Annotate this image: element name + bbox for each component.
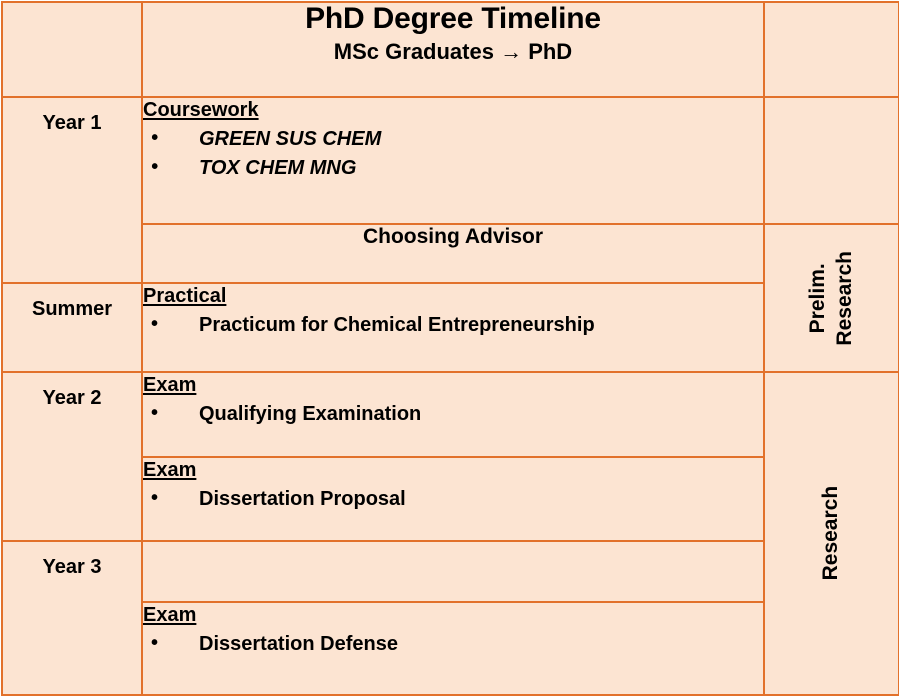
list-item: Dissertation Defense [143,630,763,659]
item-list: Qualifying Examination [143,400,763,429]
year-label: Year 2 [3,373,141,410]
cell-dissertation-proposal: Exam Dissertation Proposal [142,457,764,541]
list-item: GREEN SUS CHEM [143,125,763,154]
category-label: Coursework [143,98,259,123]
research-label: Research [818,486,844,581]
list-item: Dissertation Proposal [143,485,763,514]
header-row: PhD Degree Timeline MSc Graduates → PhD [2,2,899,97]
header-right-spacer [764,2,899,97]
item-list: Dissertation Defense [143,630,763,659]
year-cell-year3: Year 3 [2,541,142,695]
category-label: Practical [143,284,226,309]
timeline-table: PhD Degree Timeline MSc Graduates → PhD … [1,1,899,696]
rotated-label-wrap: Prelim. Research [765,225,898,371]
rotated-label-wrap: Research [765,373,898,694]
prelim-line-2: Research [832,251,859,346]
phase-cell-research: Research [764,372,899,695]
category-label: Exam [143,373,196,398]
phase-cell-blank-top [764,97,899,224]
category-label: Exam [143,458,196,483]
advisor-label: Choosing Advisor [363,225,543,248]
cell-dissertation-defense: Exam Dissertation Defense [142,602,764,695]
category-label: Exam [143,603,196,628]
cell-coursework: Coursework GREEN SUS CHEM TOX CHEM MNG [142,97,764,224]
header-title-cell: PhD Degree Timeline MSc Graduates → PhD [142,2,764,97]
page-title: PhD Degree Timeline [143,3,763,35]
cell-year3-empty [142,541,764,602]
row-qualifying-exam: Year 2 Exam Qualifying Examination Resea… [2,372,899,457]
cell-qualifying-exam: Exam Qualifying Examination [142,372,764,457]
item-list: Dissertation Proposal [143,485,763,514]
page-subtitle: MSc Graduates → PhD [143,38,763,66]
year-cell-year2: Year 2 [2,372,142,541]
prelim-line-1: Prelim. [804,251,831,346]
year-label: Year 3 [3,542,141,579]
year-cell-year1: Year 1 [2,97,142,283]
year-label: Summer [3,284,141,321]
item-list: GREEN SUS CHEM TOX CHEM MNG [143,125,763,183]
phd-timeline-diagram: PhD Degree Timeline MSc Graduates → PhD … [0,1,899,696]
list-item: Qualifying Examination [143,400,763,429]
phase-cell-prelim-research: Prelim. Research [764,224,899,372]
prelim-research-label: Prelim. Research [804,251,859,346]
cell-choosing-advisor: Choosing Advisor [142,224,764,283]
row-coursework: Year 1 Coursework GREEN SUS CHEM TOX CHE… [2,97,899,224]
header-left-spacer [2,2,142,97]
cell-practical: Practical Practicum for Chemical Entrepr… [142,283,764,372]
year-label: Year 1 [3,98,141,135]
year-cell-summer: Summer [2,283,142,372]
list-item: Practicum for Chemical Entrepreneurship [143,311,763,340]
item-list: Practicum for Chemical Entrepreneurship [143,311,763,340]
list-item: TOX CHEM MNG [143,154,763,183]
